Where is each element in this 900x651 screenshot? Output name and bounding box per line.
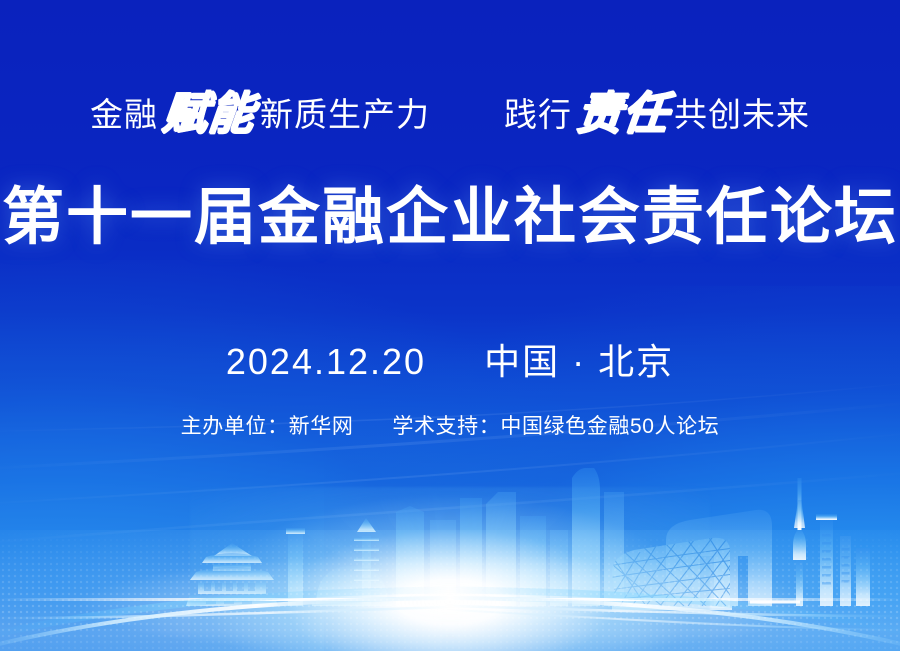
poster-content: 金融 赋能 新质生产力 践行 责任 共创未来 第十一届金融企业社会责任论坛 20… bbox=[0, 0, 900, 651]
page-title: 第十一届金融企业社会责任论坛 bbox=[0, 185, 900, 250]
event-date: 2024.12.20 bbox=[226, 341, 426, 382]
tagline-1-prefix: 金融 bbox=[90, 98, 158, 131]
forum-poster: 金融 赋能 新质生产力 践行 责任 共创未来 第十一届金融企业社会责任论坛 20… bbox=[0, 0, 900, 651]
tagline-2: 践行 责任 共创未来 bbox=[504, 88, 810, 133]
tagline-2-prefix: 践行 bbox=[504, 98, 572, 131]
tagline-2-suffix: 共创未来 bbox=[674, 98, 810, 131]
tagline-2-brush-word: 责任 bbox=[570, 91, 677, 136]
credit-organizer: 主办单位：新华网 bbox=[181, 415, 354, 438]
tagline-1-brush-word: 赋能 bbox=[156, 91, 263, 136]
credit-academic-support: 学术支持：中国绿色金融50人论坛 bbox=[392, 415, 719, 438]
event-location: 中国 · 北京 bbox=[484, 341, 674, 382]
tagline-1: 金融 赋能 新质生产力 bbox=[90, 88, 430, 133]
event-date-location: 2024.12.20 中国 · 北京 bbox=[0, 333, 900, 385]
credits-line: 主办单位：新华网 学术支持：中国绿色金融50人论坛 bbox=[0, 410, 900, 440]
tagline-row: 金融 赋能 新质生产力 践行 责任 共创未来 bbox=[0, 88, 900, 133]
tagline-1-suffix: 新质生产力 bbox=[260, 98, 430, 131]
